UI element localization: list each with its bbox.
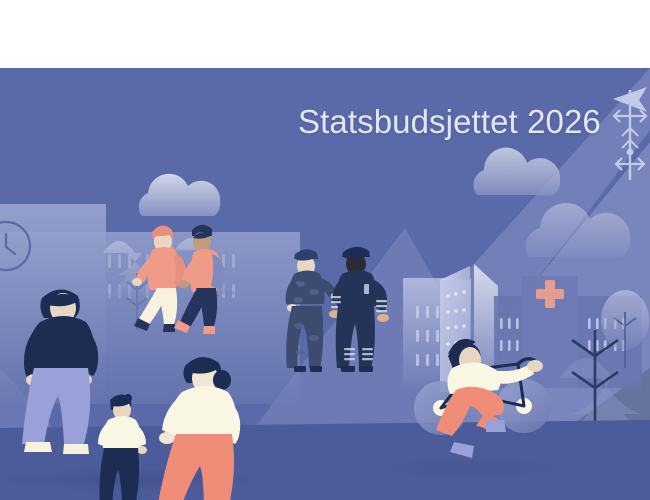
page-title: Statsbudsjettet 2026 bbox=[298, 103, 601, 141]
screenshot-root: Statsbudsjettet 2026 bbox=[0, 0, 650, 500]
